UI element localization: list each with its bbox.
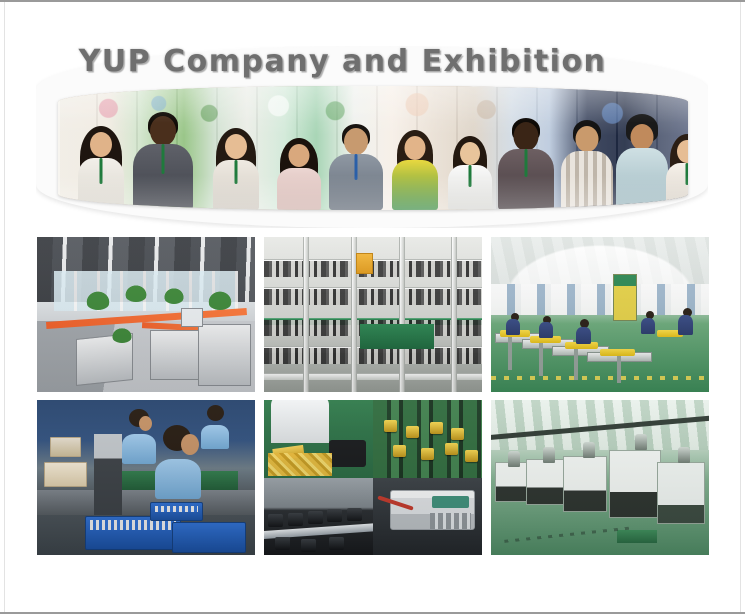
gallery-photo-office bbox=[37, 237, 255, 392]
page-title-container: YUP Company and Exhibition bbox=[0, 44, 745, 88]
page-title: YUP Company and Exhibition bbox=[79, 44, 607, 79]
gallery-photo-aging-racks bbox=[264, 237, 482, 392]
gallery-photo-assembly-workers bbox=[37, 400, 255, 555]
factory-photo-gallery bbox=[37, 237, 709, 555]
gallery-photo-process-collage bbox=[264, 400, 482, 555]
company-exhibition-page: YUP Company and Exhibition bbox=[0, 0, 745, 614]
banner-gloss-overlay bbox=[58, 86, 688, 210]
gallery-photo-assembly-line bbox=[491, 237, 709, 392]
exhibition-group-photo bbox=[58, 86, 688, 210]
gallery-photo-molding-machines bbox=[491, 400, 709, 555]
